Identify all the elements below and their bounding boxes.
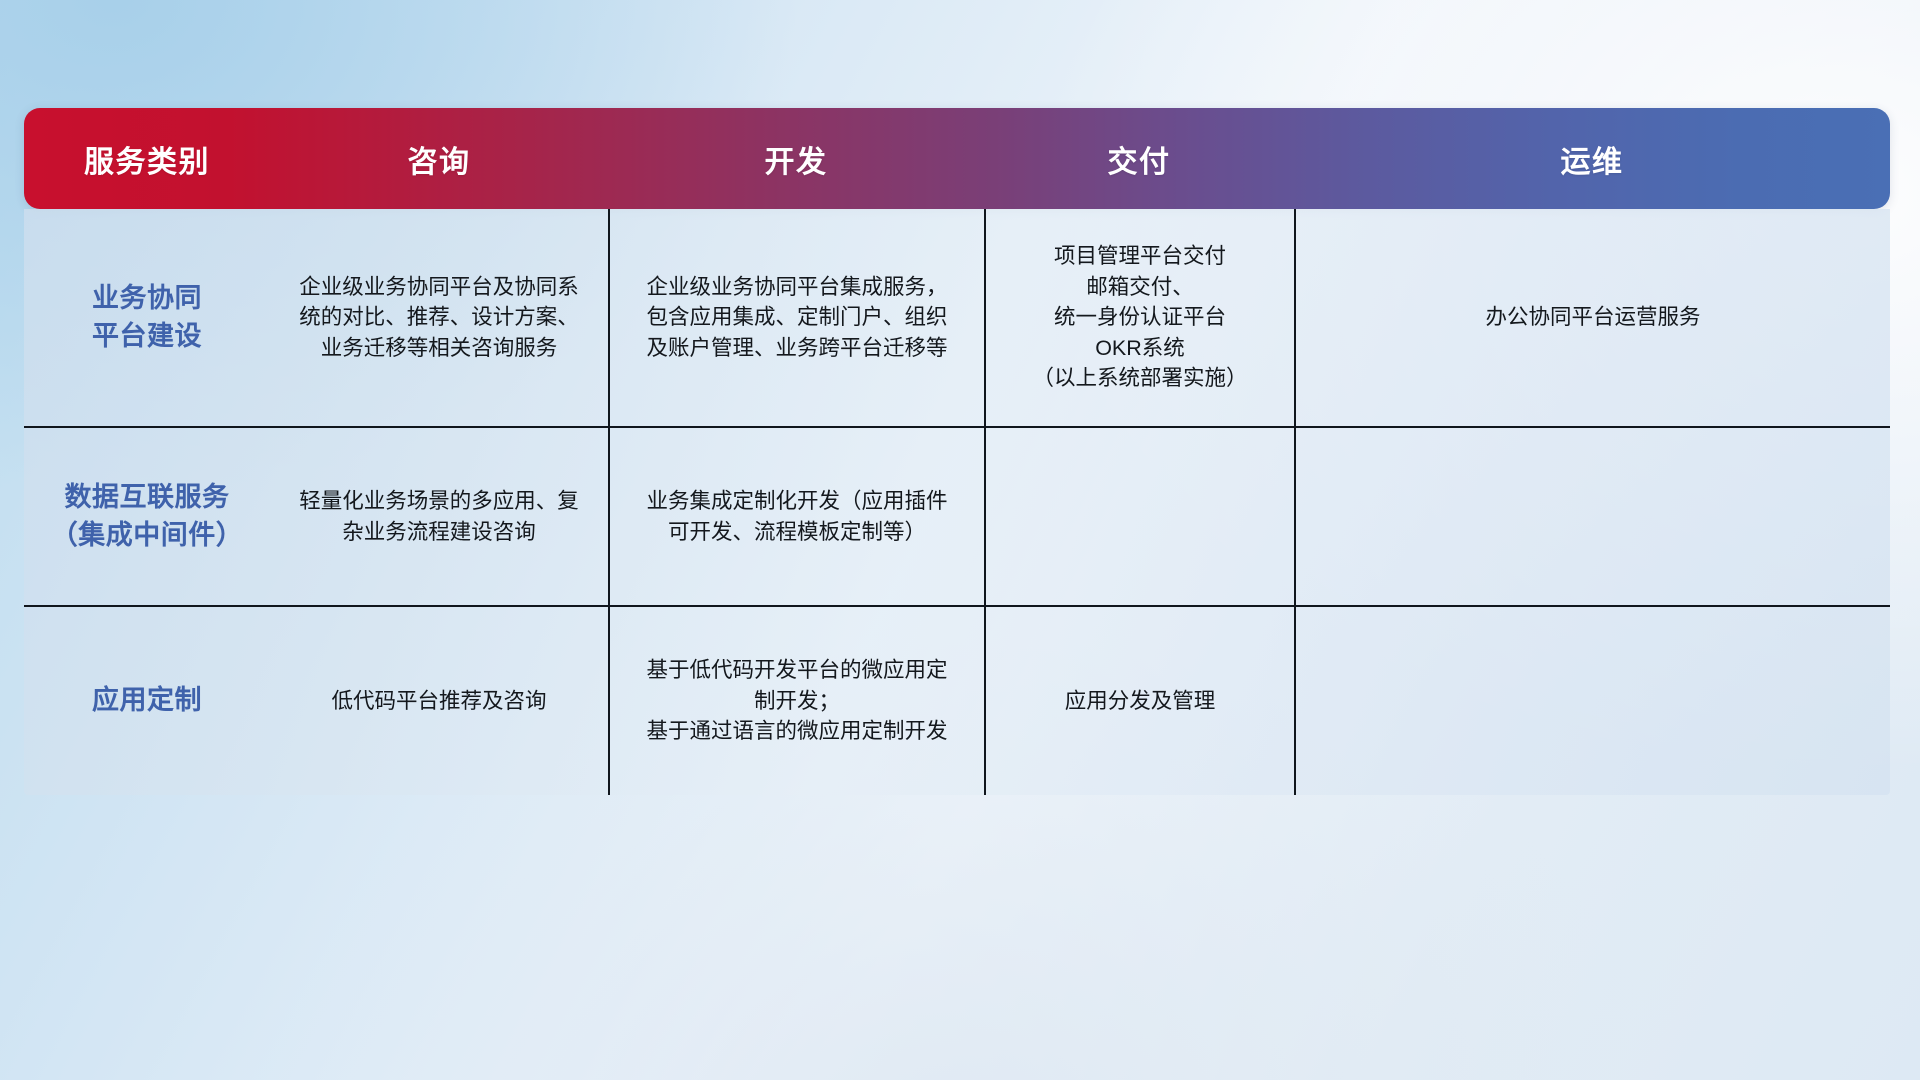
cell-consulting: 低代码平台推荐及咨询 (270, 607, 608, 795)
column-header-category: 服务类别 (24, 108, 270, 209)
cell-delivery: 应用分发及管理 (984, 607, 1294, 795)
cell-development: 基于低代码开发平台的微应用定 制开发； 基于通过语言的微应用定制开发 (608, 607, 984, 795)
cell-category: 应用定制 (24, 607, 270, 795)
cell-category: 业务协同 平台建设 (24, 209, 270, 426)
cell-delivery (984, 428, 1294, 605)
cell-delivery: 项目管理平台交付 邮箱交付、 统一身份认证平台 OKR系统 （以上系统部署实施） (984, 209, 1294, 426)
table-row: 业务协同 平台建设 企业级业务协同平台及协同系 统的对比、推荐、设计方案、 业务… (24, 209, 1890, 426)
table-row: 数据互联服务 （集成中间件） 轻量化业务场景的多应用、复 杂业务流程建设咨询 业… (24, 426, 1890, 605)
cell-consulting: 轻量化业务场景的多应用、复 杂业务流程建设咨询 (270, 428, 608, 605)
cell-operations (1294, 607, 1890, 795)
table-row: 应用定制 低代码平台推荐及咨询 基于低代码开发平台的微应用定 制开发； 基于通过… (24, 605, 1890, 795)
cell-category: 数据互联服务 （集成中间件） (24, 428, 270, 605)
cell-consulting: 企业级业务协同平台及协同系 统的对比、推荐、设计方案、 业务迁移等相关咨询服务 (270, 209, 608, 426)
cell-operations: 办公协同平台运营服务 (1294, 209, 1890, 426)
cell-development: 企业级业务协同平台集成服务， 包含应用集成、定制门户、组织 及账户管理、业务跨平… (608, 209, 984, 426)
service-matrix-table: 服务类别 咨询 开发 交付 运维 业务协同 平台建设 企业级业务协同平台及协同系… (24, 108, 1890, 780)
column-header-delivery: 交付 (984, 108, 1294, 209)
column-header-development: 开发 (608, 108, 984, 209)
cell-operations (1294, 428, 1890, 605)
column-header-consulting: 咨询 (270, 108, 608, 209)
cell-development: 业务集成定制化开发（应用插件 可开发、流程模板定制等） (608, 428, 984, 605)
table-header-row: 服务类别 咨询 开发 交付 运维 (24, 108, 1890, 209)
table-body: 业务协同 平台建设 企业级业务协同平台及协同系 统的对比、推荐、设计方案、 业务… (24, 209, 1890, 795)
column-header-operations: 运维 (1294, 108, 1890, 209)
